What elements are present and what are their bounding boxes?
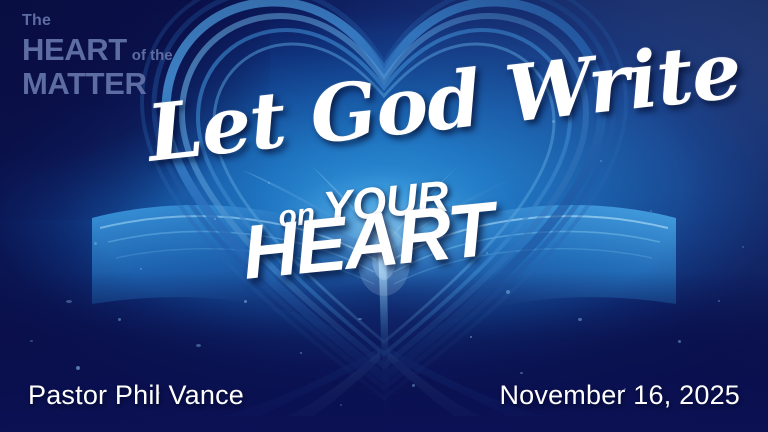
sermon-title-slide: The HEART of the MATTER Let God Write on… (0, 0, 768, 432)
sermon-date: November 16, 2025 (499, 380, 740, 411)
series-logo-heart: HEART (22, 34, 127, 65)
series-logo: The HEART of the MATTER (22, 13, 173, 99)
series-logo-the: The (22, 13, 173, 29)
series-logo-row-heart: HEART of the (22, 34, 173, 65)
series-logo-of-the: of the (132, 48, 173, 63)
speaker-name: Pastor Phil Vance (28, 380, 244, 411)
